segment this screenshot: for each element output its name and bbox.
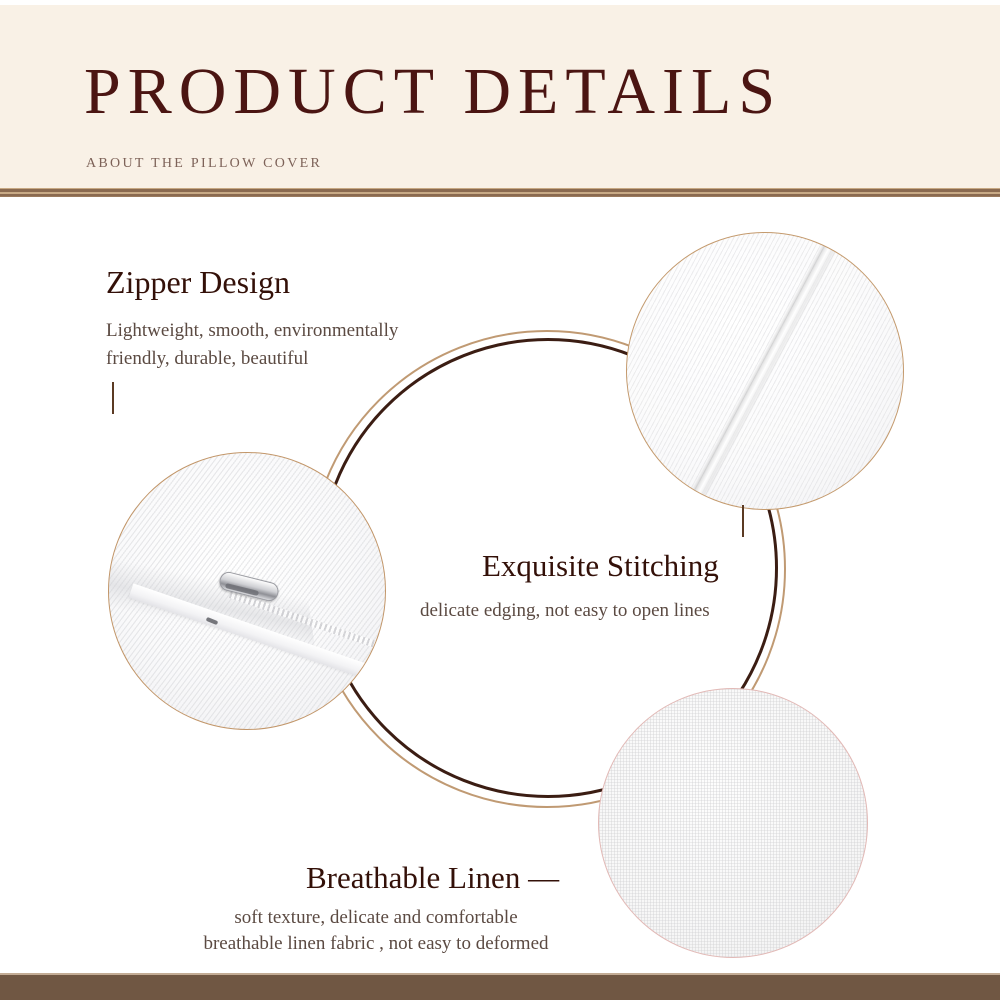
feature-title-stitching: Exquisite Stitching xyxy=(482,547,719,585)
feature-title-linen: Breathable Linen — xyxy=(306,859,559,897)
accent-tick-stitching xyxy=(742,505,744,537)
feature-title-zipper: Zipper Design xyxy=(106,263,290,301)
product-details-infographic: PRODUCT DETAILS ABOUT THE PILLOW COVER Z… xyxy=(0,0,1000,1000)
feature-description-linen-line2: breathable linen fabric , not easy to de… xyxy=(186,931,566,957)
header-banner: PRODUCT DETAILS ABOUT THE PILLOW COVER xyxy=(0,5,1000,188)
feature-description-zipper: Lightweight, smooth, environmentally fri… xyxy=(106,317,398,373)
stitching-photo-circle xyxy=(626,232,904,510)
zipper-photo-circle xyxy=(108,452,386,730)
feature-description-zipper-line2: friendly, durable, beautiful xyxy=(106,345,398,373)
feature-description-stitching: delicate edging, not easy to open lines xyxy=(420,597,710,625)
footer-bar xyxy=(0,973,1000,1000)
header-divider xyxy=(0,188,1000,197)
linen-photo-circle xyxy=(598,688,868,958)
header-divider-stripe xyxy=(0,192,1000,194)
accent-tick-zipper xyxy=(112,382,114,414)
feature-description-linen: soft texture, delicate and comfortable b… xyxy=(186,905,566,957)
feature-description-zipper-line1: Lightweight, smooth, environmentally xyxy=(106,317,398,345)
page-title: PRODUCT DETAILS xyxy=(84,57,782,127)
page-subtitle: ABOUT THE PILLOW COVER xyxy=(86,156,322,172)
feature-description-linen-line1: soft texture, delicate and comfortable xyxy=(186,905,566,931)
